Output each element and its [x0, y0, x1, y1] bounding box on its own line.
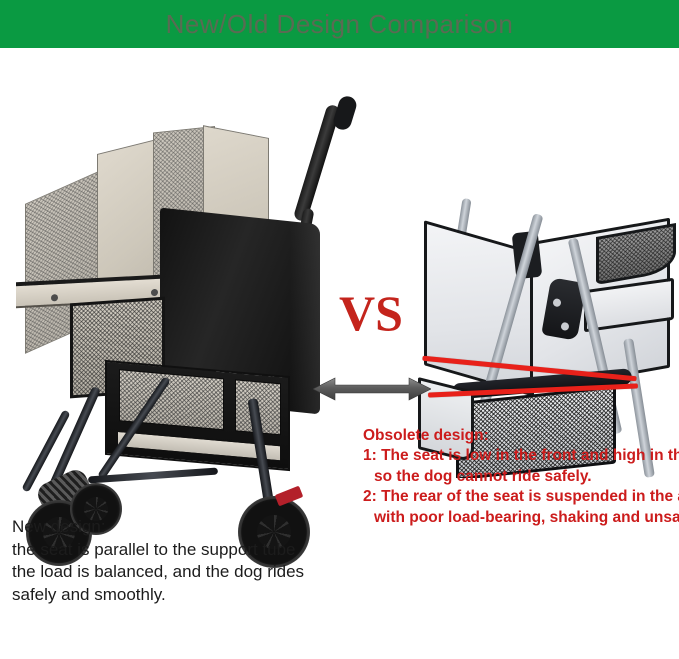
- new-design-product-image: ROODO® 🐕: [10, 68, 350, 538]
- new-design-caption: New design: the seat is parallel to the …: [12, 516, 362, 606]
- obsolete-caption-line-4: with poor load-bearing, shaking and unsa…: [363, 508, 679, 528]
- handle-grip: [331, 94, 358, 132]
- new-design-caption-heading: New design:: [12, 516, 362, 539]
- obsolete-caption-heading: Obsolete design:: [363, 426, 679, 446]
- new-design-caption-line-3: safely and smoothly.: [12, 584, 362, 607]
- new-design-caption-line-1: the seat is parallel to the support tube: [12, 539, 362, 562]
- obsolete-caption-line-3: 2: The rear of the seat is suspended in …: [363, 487, 679, 507]
- page-title: New/Old Design Comparison: [166, 9, 514, 40]
- new-design-caption-line-2: the load is balanced, and the dog rides: [12, 561, 362, 584]
- double-headed-arrow-icon: [313, 376, 431, 402]
- comparison-stage: ROODO® 🐕: [0, 48, 679, 659]
- obsolete-design-caption: Obsolete design: 1: The seat is low in t…: [363, 426, 679, 528]
- obsolete-caption-line-1: 1: The seat is low in the front and high…: [363, 446, 679, 466]
- versus-block: VS: [305, 288, 437, 413]
- versus-label: VS: [305, 288, 437, 338]
- obsolete-caption-line-2: so the dog cannot ride safely.: [363, 467, 679, 487]
- header-banner: New/Old Design Comparison: [0, 0, 679, 48]
